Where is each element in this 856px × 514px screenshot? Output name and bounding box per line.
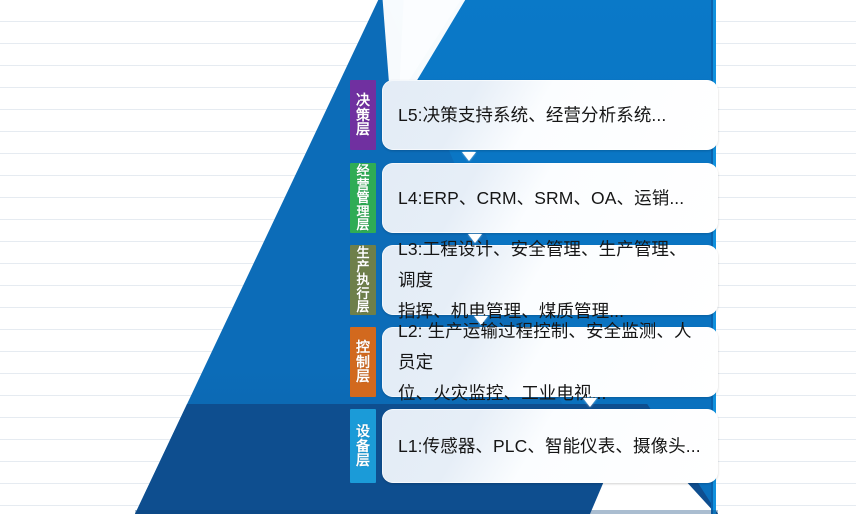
level-panel-l4[interactable]: L4:ERP、CRM、SRM、OA、运销... (382, 163, 718, 233)
level-panel-text-l3: L3:工程设计、安全管理、生产管理、调度 指挥、机电管理、煤质管理... (398, 234, 702, 327)
level-tag-char: 控 (356, 340, 370, 354)
level-tag-char: 层 (356, 369, 370, 383)
level-tag-char: 管 (356, 191, 369, 205)
flow-chevron-l2-l1 (583, 398, 597, 407)
level-panel-l1[interactable]: L1:传感器、PLC、智能仪表、摄像头... (382, 409, 718, 483)
level-row-l4[interactable]: 经 营 管 理 层 L4:ERP、CRM、SRM、OA、运销... (350, 163, 718, 233)
level-row-l2[interactable]: 控 制 层 L2: 生产运输过程控制、安全监测、人员定 位、火灾监控、工业电视.… (350, 327, 718, 397)
level-row-l5[interactable]: 决 策 层 L5:决策支持系统、经营分析系统... (350, 80, 718, 150)
level-panel-l2[interactable]: L2: 生产运输过程控制、安全监测、人员定 位、火灾监控、工业电视... (382, 327, 718, 397)
level-tag-char: 层 (356, 122, 370, 136)
level-row-l3[interactable]: 生 产 执 行 层 L3:工程设计、安全管理、生产管理、调度 指挥、机电管理、煤… (350, 245, 718, 315)
level-tag-char: 决 (356, 93, 370, 107)
level-tag-char: 生 (356, 246, 369, 260)
level-panel-text-l5: L5:决策支持系统、经营分析系统... (398, 102, 666, 128)
level-tag-char: 层 (356, 453, 370, 467)
flow-chevron-l5-l4 (462, 152, 476, 161)
level-tag-char: 经 (356, 164, 369, 178)
level-panel-text-l2: L2: 生产运输过程控制、安全监测、人员定 位、火灾监控、工业电视... (398, 316, 702, 409)
level-panel-text-l1: L1:传感器、PLC、智能仪表、摄像头... (398, 433, 701, 459)
level-tag-l2: 控 制 层 (350, 327, 376, 397)
level-panel-l5[interactable]: L5:决策支持系统、经营分析系统... (382, 80, 718, 150)
level-tag-l1: 设 备 层 (350, 409, 376, 483)
level-tag-l4: 经 营 管 理 层 (350, 163, 376, 233)
level-panel-text-l4: L4:ERP、CRM、SRM、OA、运销... (398, 185, 684, 211)
level-tag-char: 执 (356, 273, 369, 287)
level-tag-l3: 生 产 执 行 层 (350, 245, 376, 315)
level-tag-l5: 决 策 层 (350, 80, 376, 150)
level-row-l1[interactable]: 设 备 层 L1:传感器、PLC、智能仪表、摄像头... (350, 409, 718, 483)
level-panel-l3[interactable]: L3:工程设计、安全管理、生产管理、调度 指挥、机电管理、煤质管理... (382, 245, 718, 315)
level-tag-char: 设 (356, 424, 370, 438)
level-tag-char: 层 (356, 300, 369, 314)
level-tag-char: 层 (356, 218, 369, 232)
diagram-canvas: 决 策 层 L5:决策支持系统、经营分析系统... 经 营 管 理 层 L4:E… (0, 0, 856, 514)
